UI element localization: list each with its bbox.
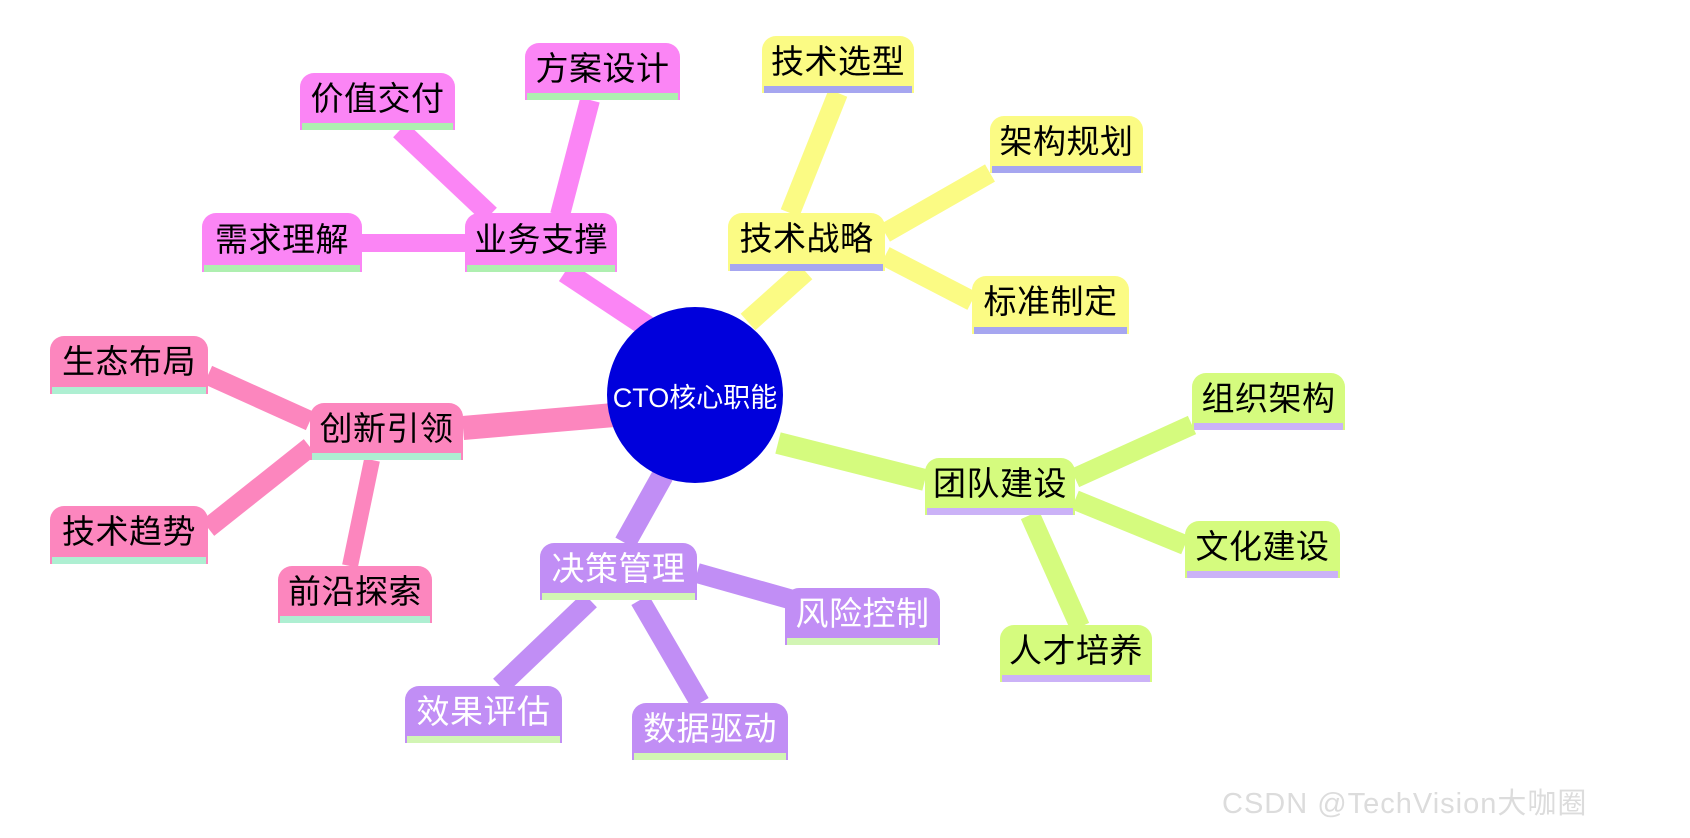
- edge-tech-strategy-to-standard-setting: [885, 256, 972, 301]
- leaf-node-ecosystem-layout[interactable]: 生态布局: [50, 336, 208, 394]
- edge-team-building-to-culture-building: [1075, 500, 1185, 545]
- leaf-node-label: 文化建设: [1196, 530, 1330, 563]
- leaf-node-label: 生态布局: [62, 345, 196, 378]
- edge-team-building-to-org-structure: [1075, 425, 1192, 478]
- branch-node-team-building[interactable]: 团队建设: [925, 458, 1075, 515]
- leaf-node-label: 数据驱动: [643, 712, 777, 745]
- edge-center-to-team-building: [778, 443, 925, 480]
- center-node[interactable]: CTO核心职能: [607, 307, 783, 483]
- node-underline-bar: [992, 166, 1141, 173]
- leaf-node-requirement-understanding[interactable]: 需求理解: [202, 213, 362, 272]
- leaf-node-standard-setting[interactable]: 标准制定: [972, 276, 1129, 334]
- node-underline-bar: [927, 508, 1073, 515]
- branch-node-innovation-leadership[interactable]: 创新引领: [310, 403, 463, 460]
- center-node-label: CTO核心职能: [613, 376, 778, 415]
- node-underline-bar: [1187, 571, 1338, 578]
- leaf-node-value-delivery[interactable]: 价值交付: [300, 73, 455, 130]
- leaf-node-talent-training[interactable]: 人才培养: [1000, 625, 1152, 682]
- mindmap-canvas: 业务支撑价值交付方案设计需求理解技术战略技术选型架构规划标准制定团队建设组织架构…: [0, 0, 1690, 838]
- edge-innovation-leadership-to-ecosystem-layout: [208, 375, 310, 421]
- node-underline-bar: [52, 557, 206, 564]
- leaf-node-tech-selection[interactable]: 技术选型: [762, 36, 914, 93]
- leaf-node-effect-evaluation[interactable]: 效果评估: [405, 686, 562, 743]
- node-underline-bar: [1002, 675, 1150, 682]
- leaf-node-risk-control[interactable]: 风险控制: [785, 588, 940, 645]
- edge-center-to-innovation-leadership: [463, 415, 614, 428]
- node-underline-bar: [280, 616, 430, 623]
- edge-tech-strategy-to-architecture-plan: [885, 173, 990, 233]
- leaf-node-solution-design[interactable]: 方案设计: [525, 43, 680, 100]
- edge-business-support-to-solution-design: [560, 100, 590, 215]
- edge-innovation-leadership-to-tech-trends: [208, 447, 310, 528]
- node-underline-bar: [1194, 423, 1343, 430]
- leaf-node-tech-trends[interactable]: 技术趋势: [50, 506, 208, 564]
- leaf-node-label: 效果评估: [417, 695, 551, 728]
- edge-center-to-business-support: [565, 272, 648, 327]
- branch-node-label: 创新引领: [320, 412, 454, 445]
- edge-tech-strategy-to-tech-selection: [790, 93, 838, 213]
- leaf-node-label: 技术趋势: [62, 515, 196, 548]
- leaf-node-label: 前沿探索: [288, 575, 422, 608]
- edge-center-to-tech-strategy: [748, 271, 805, 322]
- leaf-node-data-driven[interactable]: 数据驱动: [632, 703, 788, 760]
- edge-center-to-decision-management: [625, 475, 663, 543]
- leaf-node-label: 价值交付: [311, 82, 445, 115]
- node-underline-bar: [764, 86, 912, 93]
- edge-business-support-to-value-delivery: [400, 130, 490, 215]
- watermark: CSDN @TechVision大咖圈: [1222, 780, 1587, 822]
- edge-layer: [0, 0, 1690, 838]
- node-underline-bar: [542, 593, 695, 600]
- watermark-text: CSDN @TechVision大咖圈: [1222, 788, 1587, 820]
- edge-innovation-leadership-to-frontier-exploration: [350, 460, 372, 566]
- leaf-node-label: 人才培养: [1009, 634, 1143, 667]
- node-underline-bar: [302, 123, 453, 130]
- node-underline-bar: [467, 265, 615, 272]
- branch-node-label: 业务支撑: [474, 223, 608, 256]
- leaf-node-label: 需求理解: [215, 223, 349, 256]
- node-underline-bar: [527, 93, 678, 100]
- leaf-node-org-structure[interactable]: 组织架构: [1192, 373, 1345, 430]
- leaf-node-architecture-plan[interactable]: 架构规划: [990, 116, 1143, 173]
- node-underline-bar: [204, 265, 360, 272]
- branch-node-label: 决策管理: [552, 552, 686, 585]
- leaf-node-label: 风险控制: [796, 597, 930, 630]
- leaf-node-label: 组织架构: [1202, 382, 1336, 415]
- node-underline-bar: [730, 264, 883, 271]
- leaf-node-culture-building[interactable]: 文化建设: [1185, 521, 1340, 578]
- branch-node-label: 团队建设: [933, 467, 1067, 500]
- node-underline-bar: [787, 638, 938, 645]
- branch-node-tech-strategy[interactable]: 技术战略: [728, 213, 885, 271]
- branch-node-business-support[interactable]: 业务支撑: [465, 213, 617, 272]
- leaf-node-label: 技术选型: [771, 45, 905, 78]
- leaf-node-label: 方案设计: [536, 52, 670, 85]
- leaf-node-frontier-exploration[interactable]: 前沿探索: [278, 566, 432, 623]
- node-underline-bar: [312, 453, 461, 460]
- node-underline-bar: [407, 736, 560, 743]
- node-underline-bar: [52, 387, 206, 394]
- node-underline-bar: [634, 753, 786, 760]
- leaf-node-label: 架构规划: [1000, 125, 1134, 158]
- edge-team-building-to-talent-training: [1030, 515, 1080, 627]
- edge-decision-management-to-data-driven: [640, 600, 700, 703]
- edge-decision-management-to-effect-evaluation: [500, 600, 590, 686]
- leaf-node-label: 标准制定: [984, 285, 1118, 318]
- node-underline-bar: [974, 327, 1127, 334]
- branch-node-label: 技术战略: [740, 222, 874, 255]
- branch-node-decision-management[interactable]: 决策管理: [540, 543, 697, 600]
